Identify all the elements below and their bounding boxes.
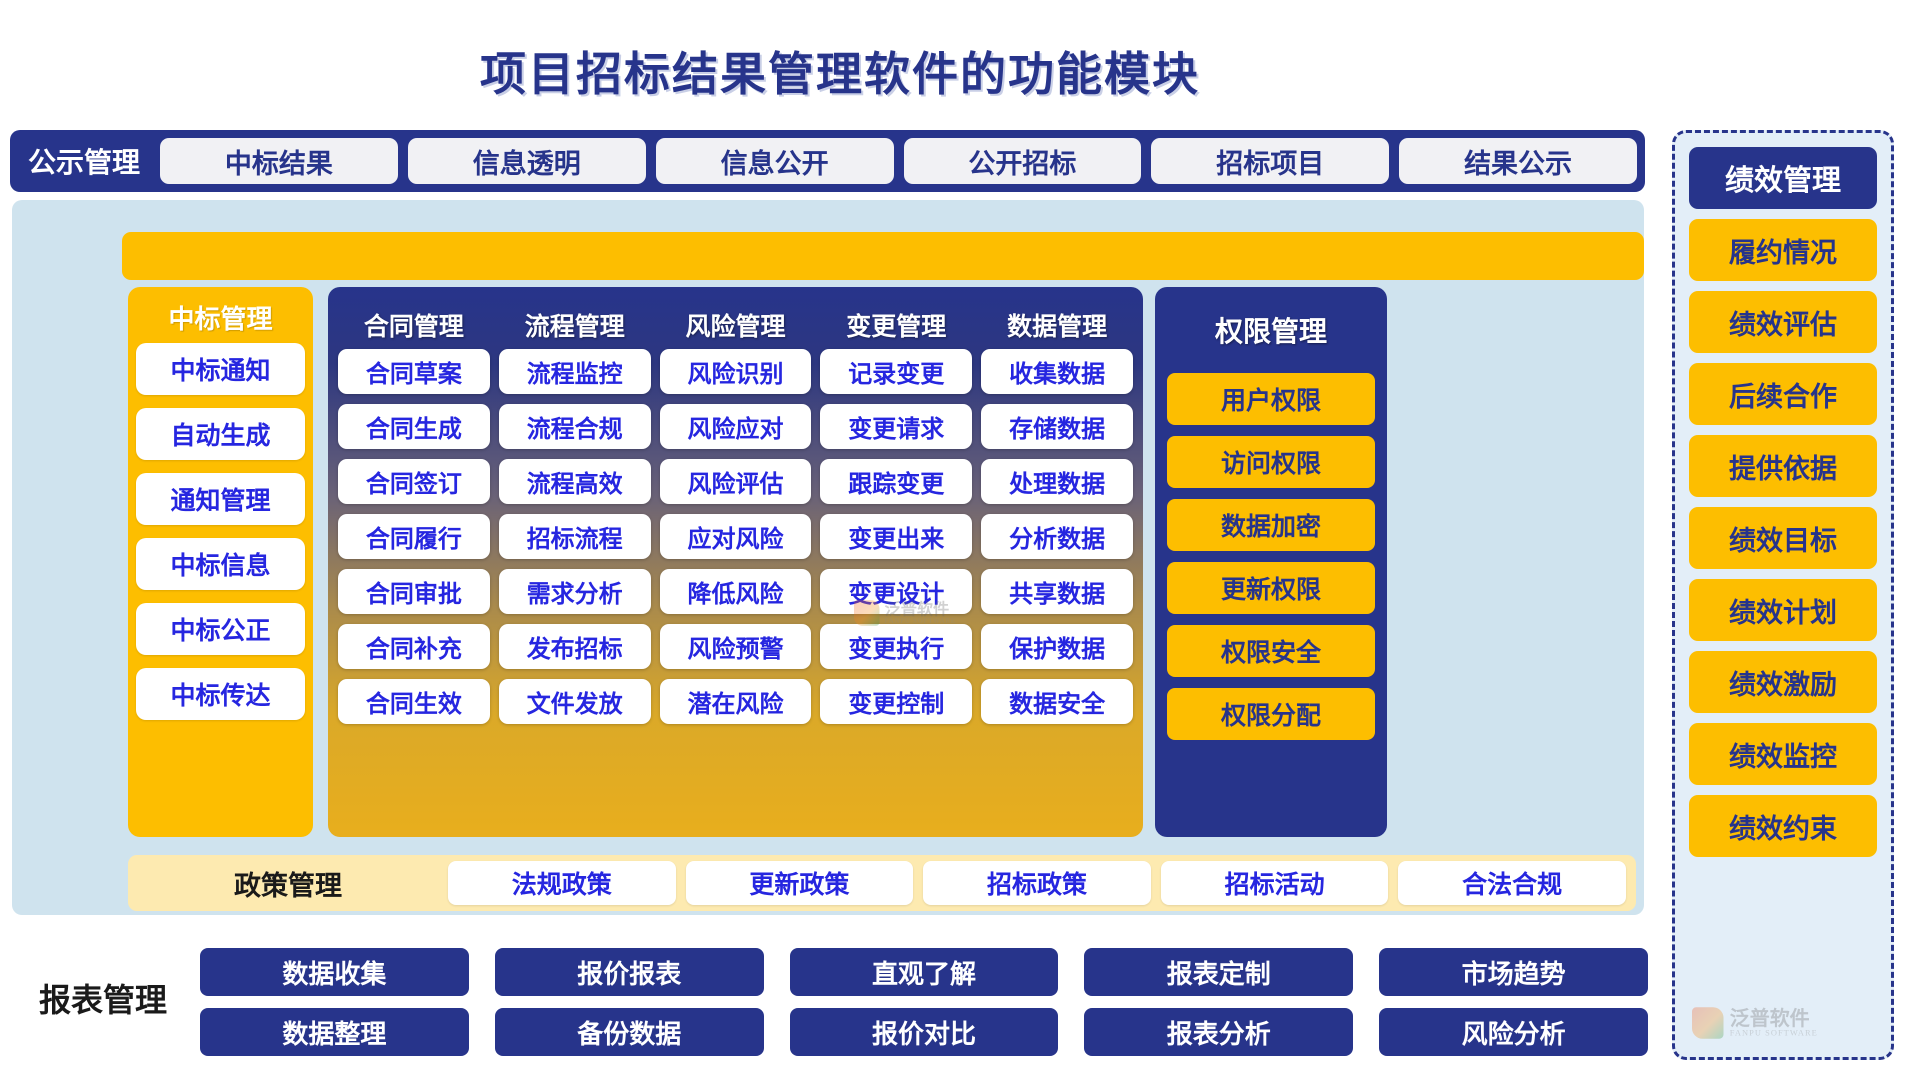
sidebar-item[interactable]: 绩效计划 bbox=[1689, 579, 1877, 641]
list-item[interactable]: 中标信息 bbox=[136, 538, 305, 590]
publicity-bar-label: 公示管理 bbox=[18, 141, 150, 181]
list-item[interactable]: 跟踪变更 bbox=[820, 459, 972, 504]
list-item[interactable]: 通知管理 bbox=[136, 473, 305, 525]
list-item[interactable]: 风险应对 bbox=[660, 404, 812, 449]
list-item[interactable]: 应对风险 bbox=[660, 514, 812, 559]
page-title: 项目招标结果管理软件的功能模块 bbox=[0, 38, 1680, 104]
policy-chip[interactable]: 招标活动 bbox=[1161, 861, 1389, 905]
report-chip[interactable]: 备份数据 bbox=[495, 1008, 764, 1056]
list-item[interactable]: 合同草案 bbox=[338, 349, 490, 394]
list-item[interactable]: 共享数据 bbox=[981, 569, 1133, 614]
list-item[interactable]: 更新权限 bbox=[1167, 562, 1375, 614]
module-column-contract: 合同管理 合同草案 合同生成 合同签订 合同履行 合同审批 合同补充 合同生效 bbox=[338, 287, 490, 837]
sidebar-item[interactable]: 履约情况 bbox=[1689, 219, 1877, 281]
policy-chip[interactable]: 合法合规 bbox=[1398, 861, 1626, 905]
sidebar-item[interactable]: 绩效监控 bbox=[1689, 723, 1877, 785]
column-title: 变更管理 bbox=[846, 287, 946, 349]
policy-chip[interactable]: 法规政策 bbox=[448, 861, 676, 905]
sidebar-header: 绩效管理 bbox=[1689, 147, 1877, 209]
list-item[interactable]: 变更执行 bbox=[820, 624, 972, 669]
report-chip[interactable]: 报表定制 bbox=[1084, 948, 1353, 996]
publicity-chip[interactable]: 信息透明 bbox=[408, 138, 646, 184]
report-management-label: 报表管理 bbox=[18, 975, 188, 1021]
list-item[interactable]: 变更控制 bbox=[820, 679, 972, 724]
report-chip[interactable]: 直观了解 bbox=[790, 948, 1059, 996]
list-item[interactable]: 访问权限 bbox=[1167, 436, 1375, 488]
list-item[interactable]: 保护数据 bbox=[981, 624, 1133, 669]
permission-panel-title: 权限管理 bbox=[1215, 287, 1327, 373]
list-item[interactable]: 中标公正 bbox=[136, 603, 305, 655]
column-title: 风险管理 bbox=[685, 287, 785, 349]
sidebar-item[interactable]: 提供依据 bbox=[1689, 435, 1877, 497]
list-item[interactable]: 中标通知 bbox=[136, 343, 305, 395]
list-item[interactable]: 存储数据 bbox=[981, 404, 1133, 449]
list-item[interactable]: 降低风险 bbox=[660, 569, 812, 614]
publicity-bar: 公示管理 中标结果 信息透明 信息公开 公开招标 招标项目 结果公示 bbox=[10, 130, 1645, 192]
list-item[interactable]: 风险预警 bbox=[660, 624, 812, 669]
publicity-chip[interactable]: 中标结果 bbox=[160, 138, 398, 184]
sidebar-item[interactable]: 绩效约束 bbox=[1689, 795, 1877, 857]
list-item[interactable]: 潜在风险 bbox=[660, 679, 812, 724]
list-item[interactable]: 合同补充 bbox=[338, 624, 490, 669]
column-title: 流程管理 bbox=[525, 287, 625, 349]
report-chip[interactable]: 报价对比 bbox=[790, 1008, 1059, 1056]
award-management-title: 中标管理 bbox=[168, 291, 272, 343]
list-item[interactable]: 分析数据 bbox=[981, 514, 1133, 559]
center-modules-panel: 合同管理 合同草案 合同生成 合同签订 合同履行 合同审批 合同补充 合同生效 … bbox=[328, 287, 1143, 837]
list-item[interactable]: 变更设计 bbox=[820, 569, 972, 614]
policy-strip-label: 政策管理 bbox=[138, 864, 438, 903]
infographic-root: 项目招标结果管理软件的功能模块 公示管理 中标结果 信息透明 信息公开 公开招标… bbox=[0, 0, 1920, 1080]
list-item[interactable]: 文件发放 bbox=[499, 679, 651, 724]
list-item[interactable]: 自动生成 bbox=[136, 408, 305, 460]
list-item[interactable]: 数据安全 bbox=[981, 679, 1133, 724]
list-item[interactable]: 发布招标 bbox=[499, 624, 651, 669]
column-title: 合同管理 bbox=[364, 287, 464, 349]
permission-management-panel: 权限管理 用户权限 访问权限 数据加密 更新权限 权限安全 权限分配 bbox=[1155, 287, 1387, 837]
publicity-chip[interactable]: 信息公开 bbox=[656, 138, 894, 184]
sidebar-item[interactable]: 绩效激励 bbox=[1689, 651, 1877, 713]
policy-chip[interactable]: 更新政策 bbox=[686, 861, 914, 905]
list-item[interactable]: 中标传达 bbox=[136, 668, 305, 720]
list-item[interactable]: 变更出来 bbox=[820, 514, 972, 559]
module-column-process: 流程管理 流程监控 流程合规 流程高效 招标流程 需求分析 发布招标 文件发放 bbox=[499, 287, 651, 837]
list-item[interactable]: 权限安全 bbox=[1167, 625, 1375, 677]
column-title: 数据管理 bbox=[1007, 287, 1107, 349]
list-item[interactable]: 记录变更 bbox=[820, 349, 972, 394]
list-item[interactable]: 用户权限 bbox=[1167, 373, 1375, 425]
list-item[interactable]: 变更请求 bbox=[820, 404, 972, 449]
list-item[interactable]: 招标流程 bbox=[499, 514, 651, 559]
module-column-data: 数据管理 收集数据 存储数据 处理数据 分析数据 共享数据 保护数据 数据安全 bbox=[981, 287, 1133, 837]
list-item[interactable]: 合同履行 bbox=[338, 514, 490, 559]
sidebar-item[interactable]: 绩效评估 bbox=[1689, 291, 1877, 353]
list-item[interactable]: 合同生成 bbox=[338, 404, 490, 449]
list-item[interactable]: 流程合规 bbox=[499, 404, 651, 449]
report-chip[interactable]: 市场趋势 bbox=[1379, 948, 1648, 996]
report-chip[interactable]: 报价报表 bbox=[495, 948, 764, 996]
list-item[interactable]: 合同审批 bbox=[338, 569, 490, 614]
report-chip[interactable]: 风险分析 bbox=[1379, 1008, 1648, 1056]
list-item[interactable]: 风险识别 bbox=[660, 349, 812, 394]
report-management-grid: 数据收集 报价报表 直观了解 报表定制 市场趋势 数据整理 备份数据 报价对比 … bbox=[200, 948, 1648, 1056]
policy-management-strip: 政策管理 法规政策 更新政策 招标政策 招标活动 合法合规 bbox=[128, 855, 1636, 911]
sidebar-item[interactable]: 绩效目标 bbox=[1689, 507, 1877, 569]
performance-management-sidebar: 绩效管理 履约情况 绩效评估 后续合作 提供依据 绩效目标 绩效计划 绩效激励 … bbox=[1672, 130, 1894, 1060]
report-chip[interactable]: 报表分析 bbox=[1084, 1008, 1353, 1056]
list-item[interactable]: 合同生效 bbox=[338, 679, 490, 724]
report-chip[interactable]: 数据整理 bbox=[200, 1008, 469, 1056]
list-item[interactable]: 收集数据 bbox=[981, 349, 1133, 394]
award-management-column: 中标管理 中标通知 自动生成 通知管理 中标信息 中标公正 中标传达 bbox=[128, 287, 313, 837]
publicity-chip[interactable]: 公开招标 bbox=[904, 138, 1142, 184]
report-chip[interactable]: 数据收集 bbox=[200, 948, 469, 996]
policy-chip[interactable]: 招标政策 bbox=[923, 861, 1151, 905]
module-column-risk: 风险管理 风险识别 风险应对 风险评估 应对风险 降低风险 风险预警 潜在风险 bbox=[660, 287, 812, 837]
list-item[interactable]: 权限分配 bbox=[1167, 688, 1375, 740]
list-item[interactable]: 数据加密 bbox=[1167, 499, 1375, 551]
sidebar-item[interactable]: 后续合作 bbox=[1689, 363, 1877, 425]
list-item[interactable]: 合同签订 bbox=[338, 459, 490, 504]
list-item[interactable]: 风险评估 bbox=[660, 459, 812, 504]
yellow-accent-strip bbox=[122, 232, 1644, 280]
list-item[interactable]: 处理数据 bbox=[981, 459, 1133, 504]
publicity-chip[interactable]: 招标项目 bbox=[1151, 138, 1389, 184]
module-column-change: 变更管理 记录变更 变更请求 跟踪变更 变更出来 变更设计 变更执行 变更控制 bbox=[820, 287, 972, 837]
publicity-chip[interactable]: 结果公示 bbox=[1399, 138, 1637, 184]
list-item[interactable]: 需求分析 bbox=[499, 569, 651, 614]
list-item[interactable]: 流程高效 bbox=[499, 459, 651, 504]
list-item[interactable]: 流程监控 bbox=[499, 349, 651, 394]
